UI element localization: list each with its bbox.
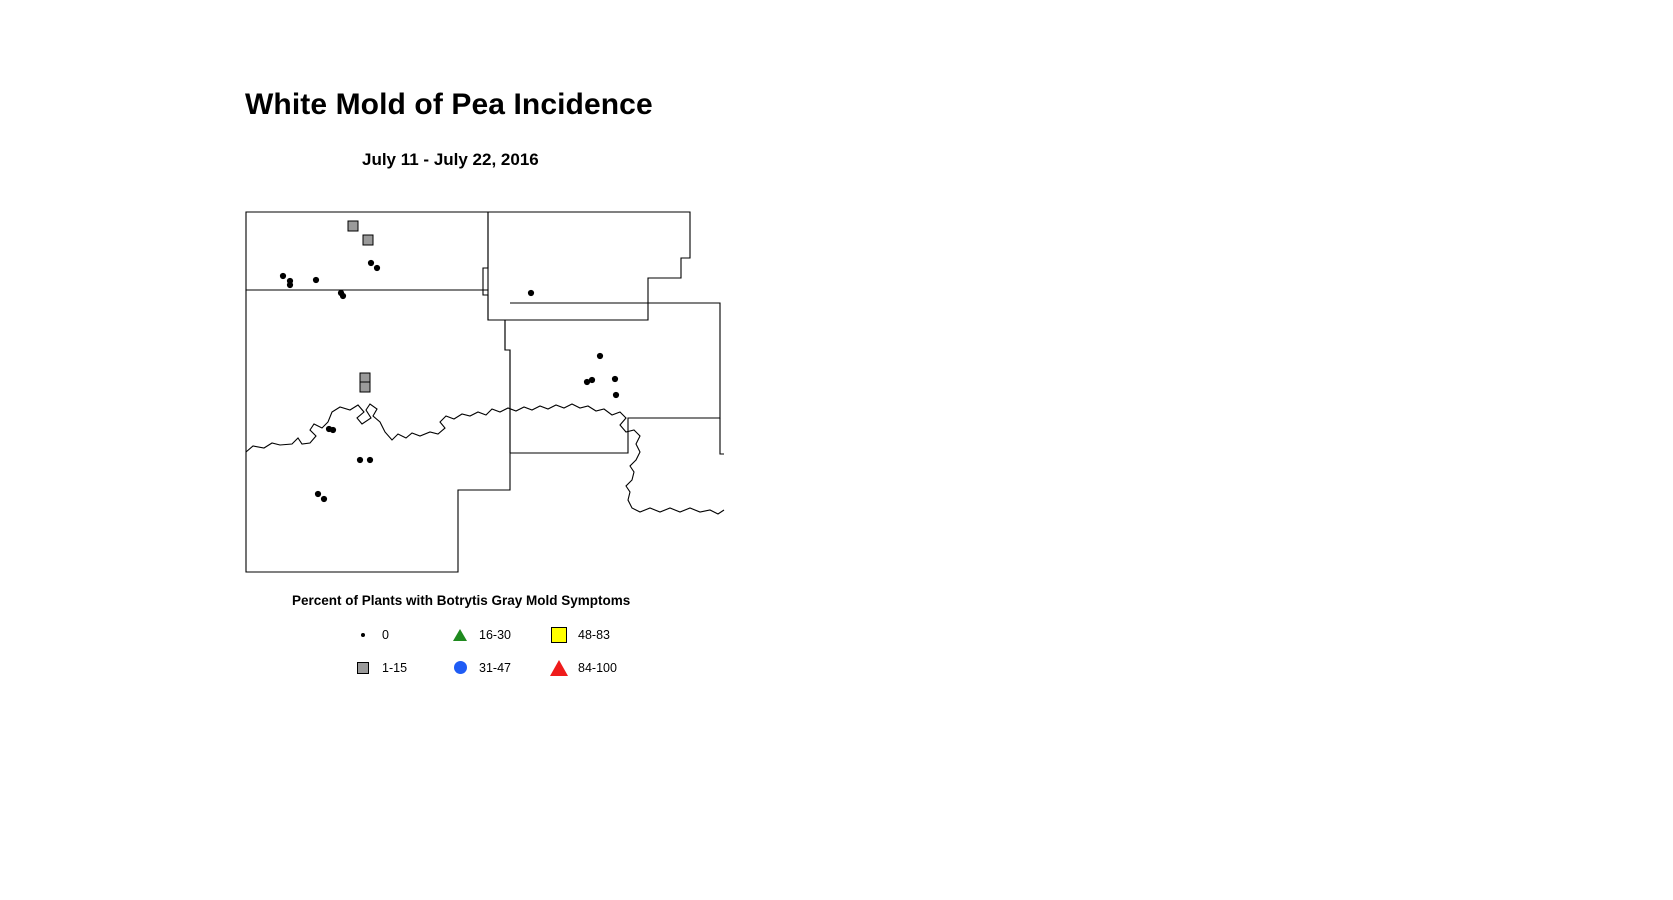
map-data-point[interactable] xyxy=(528,290,534,296)
map-data-point[interactable] xyxy=(368,260,374,266)
legend-item-label: 1-15 xyxy=(382,661,407,675)
legend-item-0[interactable]: 0 xyxy=(352,618,389,651)
map-data-point[interactable] xyxy=(367,457,373,463)
boundary-northeast-county xyxy=(483,212,690,320)
map-data-point[interactable] xyxy=(280,273,286,279)
legend-item-label: 16-30 xyxy=(479,628,511,642)
legend-item-48-83[interactable]: 48-83 xyxy=(548,618,610,651)
date-range-subtitle: July 11 - July 22, 2016 xyxy=(362,150,539,170)
data-points xyxy=(280,221,619,502)
map-canvas[interactable] xyxy=(240,200,740,595)
map-data-point[interactable] xyxy=(597,353,603,359)
legend-item-label: 0 xyxy=(382,628,389,642)
legend-row: 0 16-30 48-83 xyxy=(352,618,752,651)
blue-circle-icon xyxy=(449,661,471,674)
green-triangle-icon xyxy=(449,629,471,641)
map-data-point[interactable] xyxy=(363,235,373,245)
map-svg xyxy=(240,200,740,595)
map-data-point[interactable] xyxy=(374,265,380,271)
map-data-point[interactable] xyxy=(287,282,293,288)
legend-title: Percent of Plants with Botrytis Gray Mol… xyxy=(292,593,630,608)
page-title: White Mold of Pea Incidence xyxy=(245,88,653,122)
legend-item-label: 84-100 xyxy=(578,661,617,675)
boundary-west-county xyxy=(246,290,510,572)
map-data-point[interactable] xyxy=(330,427,336,433)
legend-item-31-47[interactable]: 31-47 xyxy=(449,651,511,684)
legend-item-1-15[interactable]: 1-15 xyxy=(352,651,407,684)
legend-grid: 0 16-30 48-83 xyxy=(352,618,752,684)
map-figure: White Mold of Pea Incidence July 11 - Ju… xyxy=(0,0,1673,900)
red-triangle-icon xyxy=(548,660,570,676)
yellow-square-icon xyxy=(548,627,570,643)
map-data-point[interactable] xyxy=(340,293,346,299)
legend-item-label: 31-47 xyxy=(479,661,511,675)
map-data-point[interactable] xyxy=(315,491,321,497)
legend-item-label: 48-83 xyxy=(578,628,610,642)
map-data-point[interactable] xyxy=(357,457,363,463)
legend-item-16-30[interactable]: 16-30 xyxy=(449,618,511,651)
map-data-point[interactable] xyxy=(360,382,370,392)
map-legend: Percent of Plants with Botrytis Gray Mol… xyxy=(240,590,740,685)
legend-item-84-100[interactable]: 84-100 xyxy=(548,651,617,684)
boundary-river-line xyxy=(246,404,724,514)
map-data-point[interactable] xyxy=(613,392,619,398)
boundary-central-divider xyxy=(505,320,510,453)
county-boundaries xyxy=(246,212,724,572)
map-data-point[interactable] xyxy=(321,496,327,502)
legend-row: 1-15 31-47 84-100 xyxy=(352,651,752,684)
boundary-southeast-step xyxy=(720,418,724,454)
map-data-point[interactable] xyxy=(589,377,595,383)
gray-square-icon xyxy=(352,662,374,674)
map-data-point[interactable] xyxy=(612,376,618,382)
map-data-point[interactable] xyxy=(313,277,319,283)
small-black-dot-icon xyxy=(352,633,374,637)
map-data-point[interactable] xyxy=(348,221,358,231)
